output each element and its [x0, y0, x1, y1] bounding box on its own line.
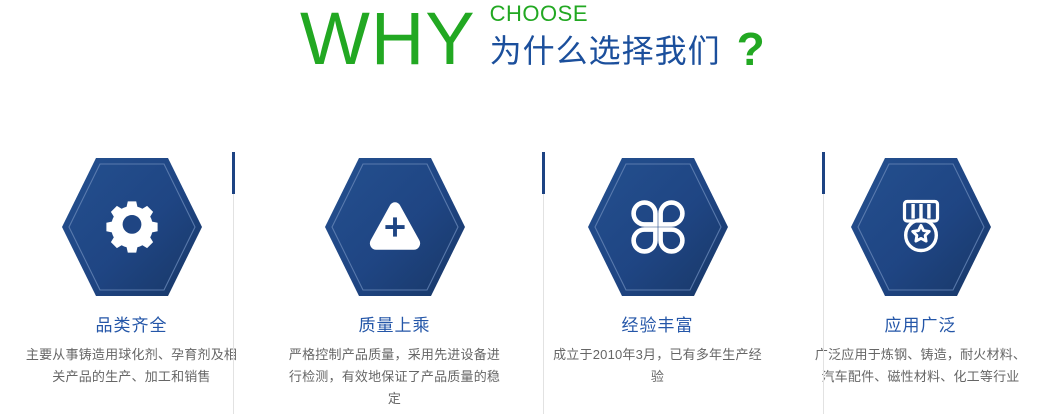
hexagon-badge	[323, 152, 467, 302]
divider-blue-segment	[542, 152, 545, 194]
feature-description: 严格控制产品质量，采用先进设备进行检测，有效地保证了产品质量的稳定	[287, 344, 502, 410]
header-inner: WHY CHOOSE 为什么选择我们 ?	[300, 0, 765, 76]
headline-sub-row: 为什么选择我们 ?	[490, 28, 765, 70]
divider-blue-segment	[822, 152, 825, 194]
feature-columns: 品类齐全 主要从事铸造用球化剂、孕育剂及相关产品的生产、加工和销售	[0, 140, 1055, 416]
hexagon-badge	[60, 152, 204, 302]
headline-choose: CHOOSE	[490, 2, 588, 26]
divider-grey-segment	[233, 194, 234, 414]
clover-icon	[586, 152, 730, 302]
triangle-plus-icon	[323, 152, 467, 302]
column-divider-1	[232, 152, 235, 414]
feature-column-4[interactable]: 应用广泛 广泛应用于炼钢、铸造，耐火材料、汽车配件、磁性材料、化工等行业	[789, 140, 1052, 416]
feature-description: 广泛应用于炼钢、铸造，耐火材料、汽车配件、磁性材料、化工等行业	[813, 344, 1028, 388]
why-choose-us-section: WHY CHOOSE 为什么选择我们 ?	[0, 0, 1055, 416]
hexagon-badge	[586, 152, 730, 302]
section-header: WHY CHOOSE 为什么选择我们 ?	[0, 0, 1055, 95]
column-divider-2	[542, 152, 545, 414]
feature-title: 品类齐全	[96, 316, 168, 336]
feature-description: 成立于2010年3月，已有多年生产经验	[550, 344, 765, 388]
feature-title: 经验丰富	[622, 316, 694, 336]
header-right-block: CHOOSE 为什么选择我们 ?	[490, 2, 765, 70]
feature-title: 应用广泛	[885, 316, 957, 336]
column-divider-3	[822, 152, 825, 414]
hexagon-badge	[849, 152, 993, 302]
divider-blue-segment	[232, 152, 235, 194]
feature-title: 质量上乘	[359, 316, 431, 336]
divider-grey-segment	[543, 194, 544, 414]
feature-column-3[interactable]: 经验丰富 成立于2010年3月，已有多年生产经验	[526, 140, 789, 416]
feature-column-2[interactable]: 质量上乘 严格控制产品质量，采用先进设备进行检测，有效地保证了产品质量的稳定	[263, 140, 526, 416]
feature-description: 主要从事铸造用球化剂、孕育剂及相关产品的生产、加工和销售	[24, 344, 239, 388]
gear-icon	[60, 152, 204, 302]
feature-column-1[interactable]: 品类齐全 主要从事铸造用球化剂、孕育剂及相关产品的生产、加工和销售	[0, 140, 263, 416]
headline-subtitle-cn: 为什么选择我们	[490, 32, 721, 70]
question-mark-icon: ?	[737, 28, 765, 70]
medal-icon	[849, 152, 993, 302]
divider-grey-segment	[823, 194, 824, 414]
headline-why: WHY	[300, 2, 476, 76]
